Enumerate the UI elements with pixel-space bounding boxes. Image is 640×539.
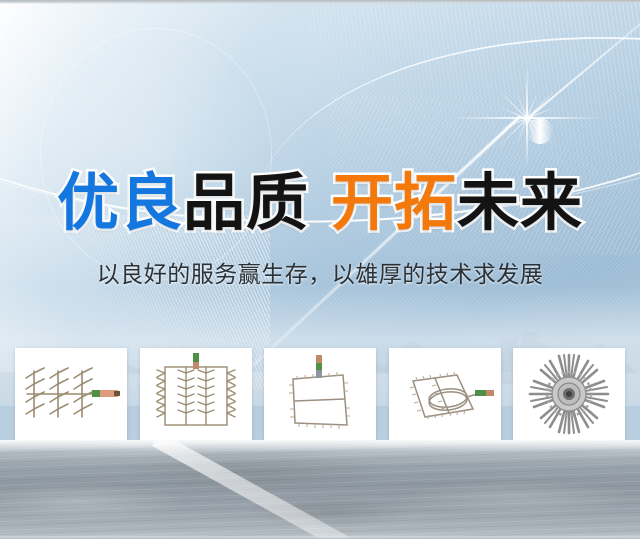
radial-spoke-rack-icon: [527, 352, 611, 436]
headline-part-1: 优良: [57, 168, 183, 240]
product-card[interactable]: [15, 348, 127, 440]
headline-part-2: 品质: [183, 168, 309, 240]
page-title: 优良品质开拓未来: [0, 168, 640, 240]
headline-part-4: 未来: [457, 168, 583, 240]
ground-horizon-glow: [0, 440, 640, 452]
product-card[interactable]: [140, 348, 252, 440]
rectangular-frame-rack-icon: [279, 353, 361, 435]
page-subtitle: 以良好的服务赢生存，以雄厚的技术求发展: [0, 258, 640, 290]
product-card-row: [15, 348, 625, 440]
promo-banner: 优良品质开拓未来 以良好的服务赢生存，以雄厚的技术求发展: [0, 0, 640, 539]
headline-part-3: 开拓: [331, 168, 457, 240]
comb-rack-hanger-icon: [19, 357, 123, 431]
product-card[interactable]: [264, 348, 376, 440]
ground-surface: [0, 440, 640, 539]
flat-ring-rack-icon: [395, 361, 495, 427]
product-card[interactable]: [513, 348, 625, 440]
banner-top-edge: [0, 0, 640, 4]
product-card[interactable]: [389, 348, 501, 440]
double-row-spike-rack-icon: [153, 353, 239, 435]
